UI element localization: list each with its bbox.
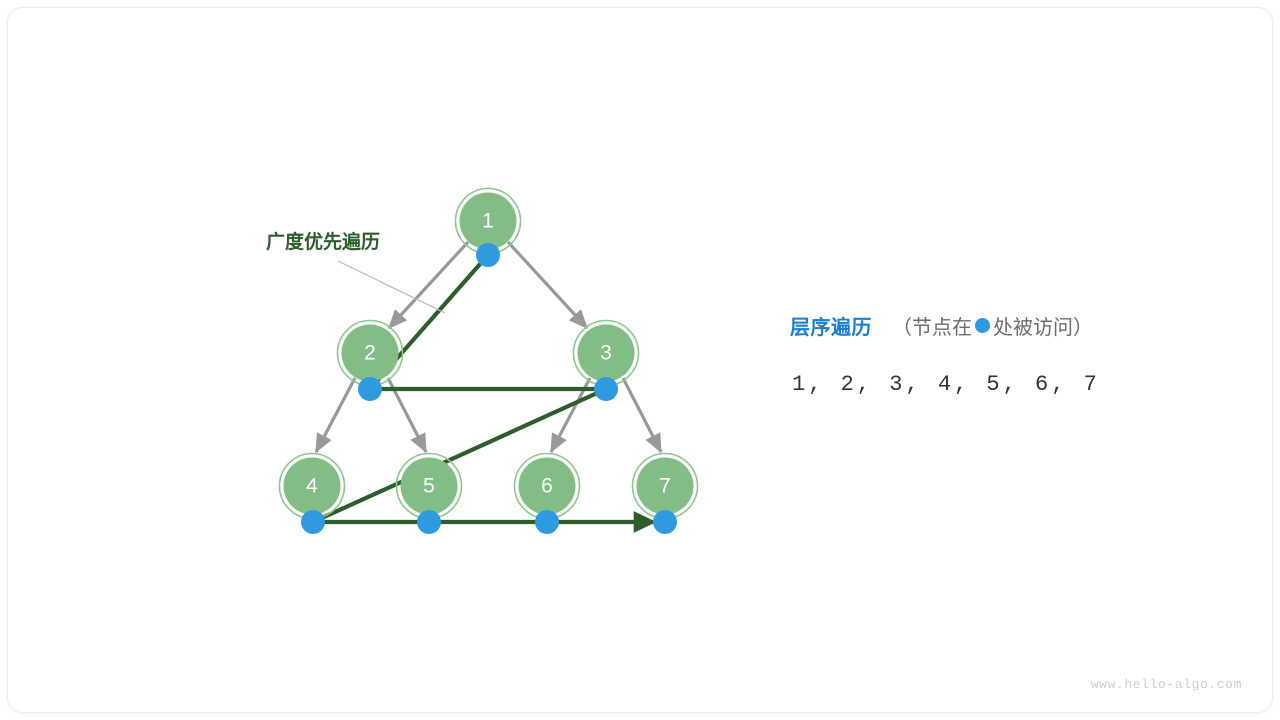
tree-edge-2-4: [316, 378, 355, 452]
tree-edge-1-2: [389, 242, 468, 328]
legend-note: （节点在 处被访问）: [892, 311, 1093, 340]
node-label: 1: [482, 210, 494, 233]
node-label: 3: [600, 342, 612, 365]
visit-dot-icon: [417, 510, 441, 534]
legend-note-prefix: （节点在: [892, 311, 972, 340]
visit-dot-icon: [476, 243, 500, 267]
tree-edge-3-7: [623, 378, 661, 452]
tree-node-1[interactable]: 1: [456, 189, 521, 268]
bfs-tree-diagram: 1 2 3 4: [8, 8, 1272, 712]
annotation-leader-line: [338, 261, 445, 313]
bfs-annotation-label: 广度优先遍历: [266, 230, 380, 253]
node-label: 2: [364, 342, 376, 365]
visit-dot-icon: [535, 510, 559, 534]
node-label: 4: [306, 475, 318, 498]
legend-note-suffix: 处被访问）: [993, 311, 1093, 340]
visit-dot-icon: [975, 318, 990, 333]
node-label: 5: [423, 475, 435, 498]
traversal-sequence: 1, 2, 3, 4, 5, 6, 7: [792, 372, 1100, 397]
visit-dot-icon: [301, 510, 325, 534]
diagram-stage: 1 2 3 4: [8, 8, 1272, 712]
tree-edge-1-3: [508, 242, 587, 328]
legend-title: 层序遍历: [790, 311, 872, 340]
diagram-card: 1 2 3 4: [8, 8, 1272, 712]
node-label: 6: [541, 475, 553, 498]
watermark: www.hello-algo.com: [1091, 677, 1242, 692]
node-label: 7: [659, 475, 671, 498]
visit-dot-icon: [653, 510, 677, 534]
visit-dot-icon: [358, 377, 382, 401]
visit-dot-icon: [594, 377, 618, 401]
